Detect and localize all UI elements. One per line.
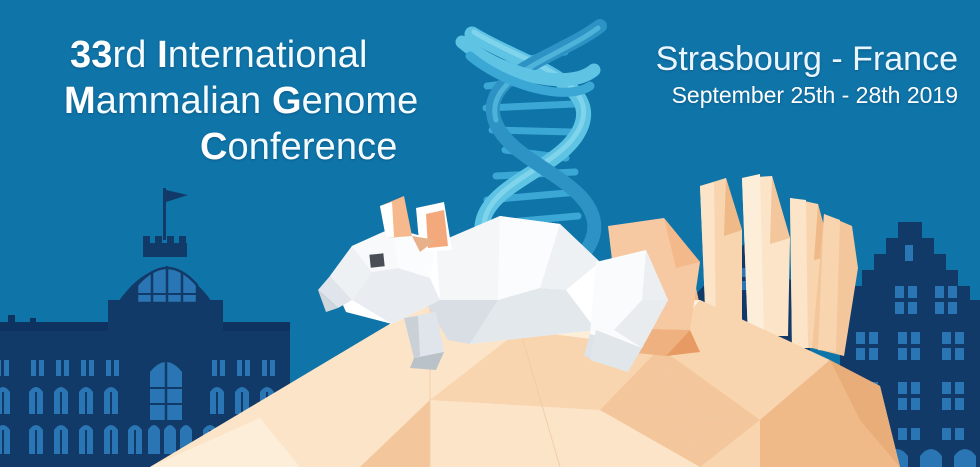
title-word-conference: onference	[228, 126, 398, 168]
event-location: Strasbourg - France	[656, 40, 958, 79]
title-cap-m: M	[64, 80, 96, 122]
title-line-3: Conference	[200, 128, 490, 168]
title-ordinal-number: 33	[70, 34, 112, 76]
mouse-eye-icon	[369, 253, 384, 267]
title-line-1: 33rd International	[70, 36, 490, 76]
title-ordinal-suffix: rd	[112, 34, 157, 76]
title-word-genome: enome	[302, 80, 419, 122]
title-word-international: nternational	[168, 34, 368, 76]
title-cap-g: G	[272, 80, 302, 122]
conference-title: 33rd International Mammalian Genome Conf…	[70, 36, 490, 168]
title-line-2: Mammalian Genome	[64, 82, 490, 122]
title-word-mammalian: ammalian	[96, 80, 272, 122]
title-cap-c: C	[200, 126, 228, 168]
conference-banner: 33rd International Mammalian Genome Conf…	[0, 0, 980, 467]
event-info: Strasbourg - France September 25th - 28t…	[656, 40, 958, 109]
event-dates: September 25th - 28th 2019	[656, 82, 958, 109]
title-cap-i: I	[157, 34, 168, 76]
